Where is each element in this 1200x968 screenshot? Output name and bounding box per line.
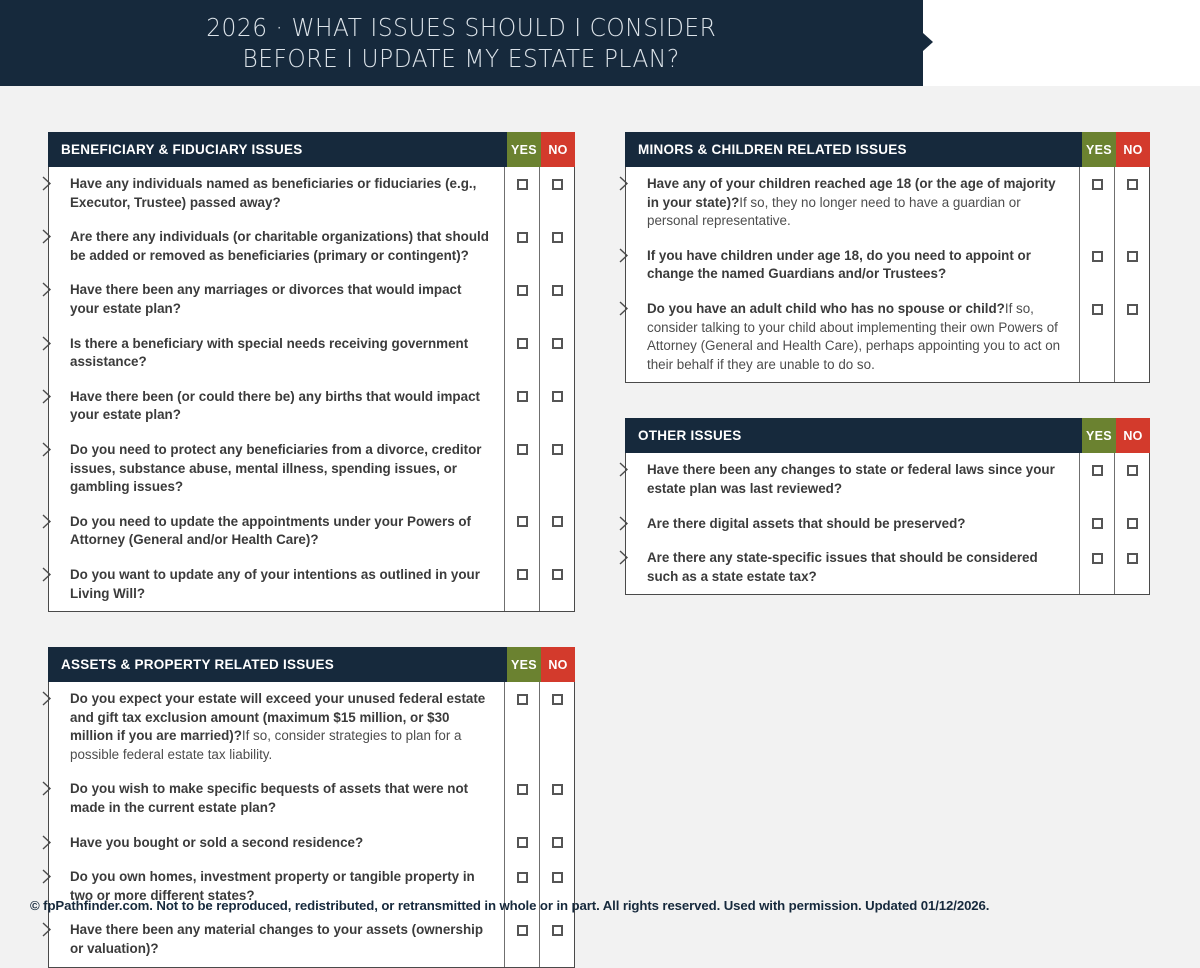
checkbox-cell [1080, 506, 1114, 541]
yes-checkbox[interactable] [517, 444, 528, 455]
question-text: If you have children under age 18, do yo… [647, 248, 1031, 282]
row-chevron-icon [619, 248, 631, 263]
question-text: Do you want to update any of your intent… [70, 567, 480, 601]
no-checkbox[interactable] [1127, 251, 1138, 262]
question-text: Do you have an adult child who has no sp… [647, 301, 1005, 316]
yes-checkbox[interactable] [1092, 304, 1103, 315]
checkbox-cell [540, 504, 574, 557]
yes-checkbox[interactable] [1092, 465, 1103, 476]
no-checkbox-column [1115, 167, 1149, 382]
checkbox-cell [1115, 292, 1149, 382]
section-table-other-issues: OTHER ISSUESYESNOHave there been any cha… [625, 418, 1150, 595]
no-checkbox[interactable] [552, 338, 563, 349]
checkbox-cell [540, 379, 574, 432]
checkbox-cell [505, 167, 539, 220]
row-chevron-icon [619, 462, 631, 477]
checklist-row: If you have children under age 18, do yo… [626, 239, 1079, 292]
section-title: MINORS & CHILDREN RELATED ISSUES [625, 132, 1082, 167]
checkbox-cell [505, 557, 539, 610]
checkbox-cell [1080, 541, 1114, 594]
row-chevron-icon [42, 835, 54, 850]
header-right-blank [923, 0, 1200, 86]
checkbox-cell [1115, 167, 1149, 239]
question-column: Have there been any changes to state or … [626, 453, 1080, 594]
row-chevron-icon [42, 442, 54, 457]
question-column: Do you expect your estate will exceed yo… [49, 682, 505, 967]
checkbox-cell [505, 682, 539, 772]
section-title: OTHER ISSUES [625, 418, 1082, 453]
section-body: Have any individuals named as beneficiar… [49, 167, 574, 611]
yes-checkbox[interactable] [517, 569, 528, 580]
checkbox-cell [1115, 506, 1149, 541]
checklist-row: Are there digital assets that should be … [626, 507, 1079, 542]
question-text: Have there been any changes to state or … [647, 462, 1055, 496]
checkbox-cell [540, 682, 574, 772]
no-checkbox[interactable] [552, 784, 563, 795]
row-chevron-icon [42, 176, 54, 191]
yes-checkbox[interactable] [517, 516, 528, 527]
no-checkbox[interactable] [552, 391, 563, 402]
section-table-assets-property-related-issues: ASSETS & PROPERTY RELATED ISSUESYESNODo … [48, 647, 575, 968]
question-text: Have you bought or sold a second residen… [70, 835, 363, 850]
row-chevron-icon [42, 567, 54, 582]
yes-checkbox[interactable] [517, 784, 528, 795]
yes-checkbox[interactable] [517, 338, 528, 349]
checklist-row: Have any individuals named as beneficiar… [49, 167, 504, 220]
checkbox-cell [540, 825, 574, 860]
checkbox-cell [1080, 292, 1114, 382]
checkbox-cell [540, 432, 574, 504]
no-checkbox[interactable] [1127, 179, 1138, 190]
page-title-line-1: 2026 · WHAT ISSUES SHOULD I CONSIDER [206, 12, 716, 43]
no-checkbox[interactable] [552, 694, 563, 705]
checkbox-cell [540, 772, 574, 825]
question-text: Are there digital assets that should be … [647, 516, 966, 531]
checkbox-cell [505, 273, 539, 326]
no-checkbox[interactable] [552, 444, 563, 455]
question-text: Are there any state-specific issues that… [647, 550, 1038, 584]
yes-checkbox[interactable] [517, 872, 528, 883]
no-checkbox-column [540, 167, 574, 611]
no-checkbox[interactable] [1127, 518, 1138, 529]
row-chevron-icon [619, 301, 631, 316]
row-chevron-icon [42, 229, 54, 244]
checklist-row: Do you have an adult child who has no sp… [626, 292, 1079, 382]
row-chevron-icon [42, 781, 54, 796]
yes-checkbox[interactable] [1092, 553, 1103, 564]
yes-checkbox[interactable] [517, 391, 528, 402]
column-header-yes: YES [507, 647, 541, 682]
checklist-row: Do you wish to make specific bequests of… [49, 772, 504, 825]
checkbox-cell [1115, 453, 1149, 506]
right-column: MINORS & CHILDREN RELATED ISSUESYESNOHav… [625, 132, 1150, 595]
checkbox-cell [540, 326, 574, 379]
row-chevron-icon [42, 336, 54, 351]
checkbox-cell [540, 273, 574, 326]
yes-checkbox[interactable] [517, 837, 528, 848]
row-chevron-icon [619, 550, 631, 565]
checkbox-cell [1080, 239, 1114, 292]
no-checkbox[interactable] [552, 285, 563, 296]
question-text: Have there been any marriages or divorce… [70, 282, 461, 316]
question-text: Do you need to protect any beneficiaries… [70, 442, 482, 494]
question-column: Have any of your children reached age 18… [626, 167, 1080, 382]
yes-checkbox-column [1080, 453, 1115, 594]
checkbox-cell [505, 432, 539, 504]
footer-copyright: © fpPathfinder.com. Not to be reproduced… [30, 898, 1170, 913]
checklist-row: Do you need to protect any beneficiaries… [49, 433, 504, 505]
checkbox-cell [1115, 239, 1149, 292]
checkbox-cell [505, 825, 539, 860]
checklist-row: Do you expect your estate will exceed yo… [49, 682, 504, 772]
row-chevron-icon [42, 389, 54, 404]
section-table-beneficiary-fiduciary-issues: BENEFICIARY & FIDUCIARY ISSUESYESNOHave … [48, 132, 575, 612]
no-checkbox-column [540, 682, 574, 967]
checkbox-cell [505, 220, 539, 273]
checkbox-cell [1115, 541, 1149, 594]
column-header-no: NO [1116, 418, 1150, 453]
checklist-row: Have there been any material changes to … [49, 913, 504, 966]
checkbox-cell [505, 379, 539, 432]
no-checkbox[interactable] [552, 569, 563, 580]
no-checkbox-column [1115, 453, 1149, 594]
checklist-row: Have there been any changes to state or … [626, 453, 1079, 506]
no-checkbox[interactable] [552, 837, 563, 848]
checkbox-cell [540, 557, 574, 610]
yes-checkbox[interactable] [517, 179, 528, 190]
header-arrow-icon [923, 33, 933, 51]
checkbox-cell [540, 220, 574, 273]
no-checkbox[interactable] [552, 232, 563, 243]
yes-checkbox[interactable] [517, 285, 528, 296]
column-header-no: NO [541, 132, 575, 167]
checklist-row: Have there been (or could there be) any … [49, 380, 504, 433]
question-text: Have there been (or could there be) any … [70, 389, 480, 423]
section-body: Have there been any changes to state or … [626, 453, 1149, 594]
no-checkbox[interactable] [1127, 465, 1138, 476]
checkbox-cell [540, 913, 574, 966]
section-body: Do you expect your estate will exceed yo… [49, 682, 574, 967]
page-title: 2026 · WHAT ISSUES SHOULD I CONSIDER BEF… [0, 0, 923, 86]
question-text: Do you wish to make specific bequests of… [70, 781, 468, 815]
section-header: ASSETS & PROPERTY RELATED ISSUESYESNO [48, 647, 575, 682]
left-column: BENEFICIARY & FIDUCIARY ISSUESYESNOHave … [48, 132, 575, 968]
section-header: MINORS & CHILDREN RELATED ISSUESYESNO [625, 132, 1150, 167]
checklist-row: Do you want to update any of your intent… [49, 558, 504, 611]
section-title: ASSETS & PROPERTY RELATED ISSUES [48, 647, 507, 682]
checkbox-cell [505, 326, 539, 379]
checklist-row: Do you need to update the appointments u… [49, 505, 504, 558]
yes-checkbox[interactable] [517, 232, 528, 243]
yes-checkbox-column [505, 682, 540, 967]
column-header-yes: YES [1082, 418, 1116, 453]
yes-checkbox[interactable] [517, 694, 528, 705]
column-header-yes: YES [507, 132, 541, 167]
no-checkbox[interactable] [1127, 304, 1138, 315]
yes-checkbox[interactable] [1092, 251, 1103, 262]
row-chevron-icon [42, 869, 54, 884]
question-text: Is there a beneficiary with special need… [70, 336, 468, 370]
checklist-row: Are there any state-specific issues that… [626, 541, 1079, 594]
no-checkbox[interactable] [1127, 553, 1138, 564]
checklist-row: Have there been any marriages or divorce… [49, 273, 504, 326]
column-header-no: NO [1116, 132, 1150, 167]
row-chevron-icon [619, 516, 631, 531]
column-header-no: NO [541, 647, 575, 682]
checkbox-cell [540, 167, 574, 220]
checklist-row: Are there any individuals (or charitable… [49, 220, 504, 273]
section-body: Have any of your children reached age 18… [626, 167, 1149, 382]
checkbox-cell [505, 772, 539, 825]
row-chevron-icon [619, 176, 631, 191]
question-text: Are there any individuals (or charitable… [70, 229, 489, 263]
no-checkbox[interactable] [552, 872, 563, 883]
row-chevron-icon [42, 282, 54, 297]
checklist-row: Is there a beneficiary with special need… [49, 327, 504, 380]
no-checkbox[interactable] [552, 179, 563, 190]
checklist-row: Have you bought or sold a second residen… [49, 826, 504, 861]
section-title: BENEFICIARY & FIDUCIARY ISSUES [48, 132, 507, 167]
row-chevron-icon [42, 514, 54, 529]
checklist-row: Have any of your children reached age 18… [626, 167, 1079, 239]
yes-checkbox-column [505, 167, 540, 611]
section-header: OTHER ISSUESYESNO [625, 418, 1150, 453]
row-chevron-icon [42, 922, 54, 937]
section-table-minors-children-related-issues: MINORS & CHILDREN RELATED ISSUESYESNOHav… [625, 132, 1150, 383]
checkbox-cell [505, 504, 539, 557]
yes-checkbox[interactable] [1092, 518, 1103, 529]
page-title-line-2: BEFORE I UPDATE MY ESTATE PLAN? [243, 43, 680, 74]
question-text: Do you need to update the appointments u… [70, 514, 471, 548]
section-header: BENEFICIARY & FIDUCIARY ISSUESYESNO [48, 132, 575, 167]
checklist-sheet: BENEFICIARY & FIDUCIARY ISSUESYESNOHave … [0, 86, 1200, 927]
checkbox-cell [1080, 167, 1114, 239]
question-text: Have any individuals named as beneficiar… [70, 176, 476, 210]
question-column: Have any individuals named as beneficiar… [49, 167, 505, 611]
question-text: Have there been any material changes to … [70, 922, 483, 956]
no-checkbox[interactable] [552, 516, 563, 527]
checkbox-cell [505, 913, 539, 966]
yes-checkbox-column [1080, 167, 1115, 382]
checkbox-cell [1080, 453, 1114, 506]
column-header-yes: YES [1082, 132, 1116, 167]
yes-checkbox[interactable] [1092, 179, 1103, 190]
row-chevron-icon [42, 691, 54, 706]
